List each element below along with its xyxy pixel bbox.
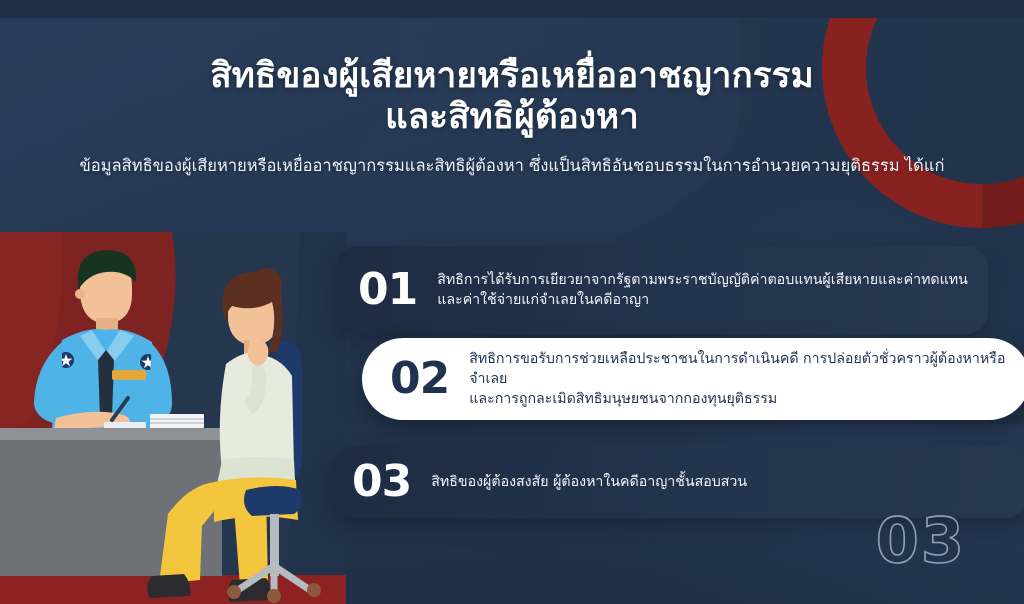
list-item-text: สิทธิการได้รับการเยียวยาจากรัฐตามพระราชบ…: [437, 270, 968, 310]
list-item-number: 02: [390, 357, 449, 401]
list-item-02[interactable]: 02 สิทธิการขอรับการช่วยเหลือประชาชนในการ…: [362, 338, 1024, 420]
list-item-text-line1: สิทธิของผู้ต้องสงสัย ผู้ต้องหาในคดีอาญาช…: [431, 472, 747, 492]
page-title: สิทธิของผู้เสียหายหรือเหยื่ออาชญากรรม แล…: [0, 0, 1024, 138]
slide-header: สิทธิของผู้เสียหายหรือเหยื่ออาชญากรรม แล…: [0, 0, 1024, 176]
list-item-text-line2: และการถูกละเมิดสิทธิมนุษยชนจากกองทุนยุติ…: [469, 389, 1024, 409]
page-title-line2: และสิทธิผู้ต้องหา: [0, 97, 1024, 138]
page-number: 03: [876, 510, 966, 572]
page-title-line1: สิทธิของผู้เสียหายหรือเหยื่ออาชญากรรม: [210, 56, 814, 96]
list-item-text-line1: สิทธิการได้รับการเยียวยาจากรัฐตามพระราชบ…: [437, 270, 968, 290]
list-item-text: สิทธิของผู้ต้องสงสัย ผู้ต้องหาในคดีอาญาช…: [431, 472, 747, 492]
list-item-number: 03: [352, 460, 411, 504]
list-item-text-line2: และค่าใช้จ่ายแก่จำเลยในคดีอาญา: [437, 290, 968, 310]
slide-canvas: สิทธิของผู้เสียหายหรือเหยื่ออาชญากรรม แล…: [0, 0, 1024, 604]
list-item-number: 01: [358, 268, 417, 312]
list-item-text-line1: สิทธิการขอรับการช่วยเหลือประชาชนในการดำเ…: [469, 349, 1024, 389]
list-item-01[interactable]: 01 สิทธิการได้รับการเยียวยาจากรัฐตามพระร…: [336, 246, 988, 334]
list-item-text: สิทธิการขอรับการช่วยเหลือประชาชนในการดำเ…: [469, 349, 1024, 409]
page-subtitle: ข้อมูลสิทธิของผู้เสียหายหรือเหยื่ออาชญาก…: [0, 155, 1024, 176]
